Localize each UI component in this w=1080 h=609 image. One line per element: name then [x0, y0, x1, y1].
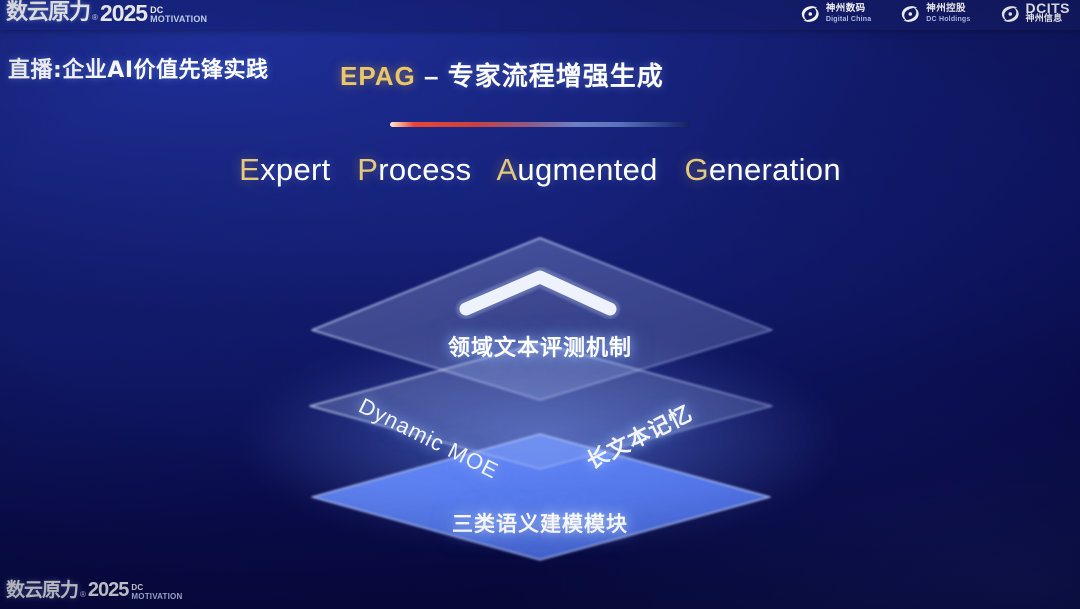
watermark-dc-label: DC — [131, 583, 182, 592]
watermark-registered-mark: ® — [80, 589, 86, 601]
watermark-motivation-label: MOTIVATION — [131, 592, 182, 601]
watermark-year: 2025 — [88, 579, 129, 601]
brand-watermark: 数云原力 ® 2025 DC MOTIVATION — [6, 2, 1068, 601]
slide-canvas: 领域文本评测机制 Dynamic MOE 长文本记忆 三类语义建模模块 数云原力… — [0, 0, 1080, 609]
watermark-name-cn: 数云原力 — [6, 579, 78, 601]
